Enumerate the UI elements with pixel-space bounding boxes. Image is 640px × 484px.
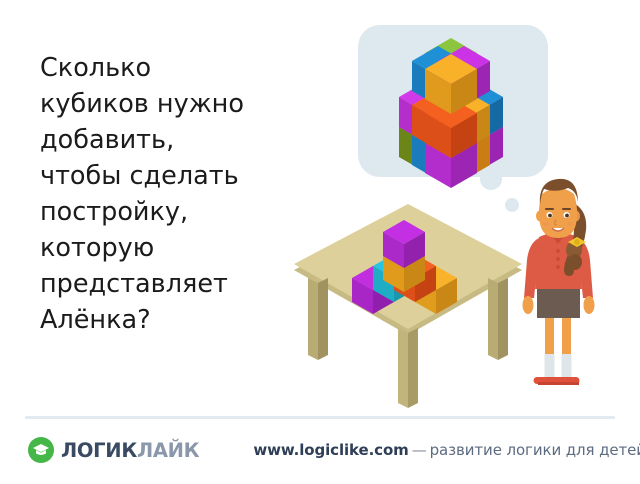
- footer-tagline: www.logiclike.com—развитие логики для де…: [253, 441, 640, 459]
- footer-divider: [25, 416, 615, 419]
- question-text: Сколько кубиков нужно добавить, чтобы сд…: [40, 50, 310, 338]
- graduation-cap-icon: [28, 437, 54, 463]
- girl-head: [536, 179, 580, 238]
- table-with-blocks: [288, 188, 528, 408]
- brand-word-light: ЛАЙК: [137, 439, 199, 462]
- thought-bubble: [358, 25, 548, 177]
- slide-canvas: Сколько кубиков нужно добавить, чтобы сд…: [0, 0, 640, 484]
- footer: ЛОГИКЛАЙК www.logiclike.com—развитие лог…: [0, 428, 640, 472]
- tagline-text: развитие логики для детей: [430, 441, 640, 459]
- girl-character-alenka: [512, 172, 620, 400]
- thought-bubble-dot-large: [480, 168, 502, 190]
- site-url-link[interactable]: www.logiclike.com: [253, 441, 408, 459]
- brand-logo[interactable]: ЛОГИКЛАЙК: [28, 437, 199, 463]
- girl-legs: [534, 312, 580, 385]
- girl-skirt: [537, 285, 580, 318]
- tagline-dash: —: [409, 441, 430, 459]
- brand-wordmark: ЛОГИКЛАЙК: [61, 439, 199, 462]
- table-top: [294, 204, 522, 335]
- brand-word-bold: ЛОГИК: [61, 439, 137, 462]
